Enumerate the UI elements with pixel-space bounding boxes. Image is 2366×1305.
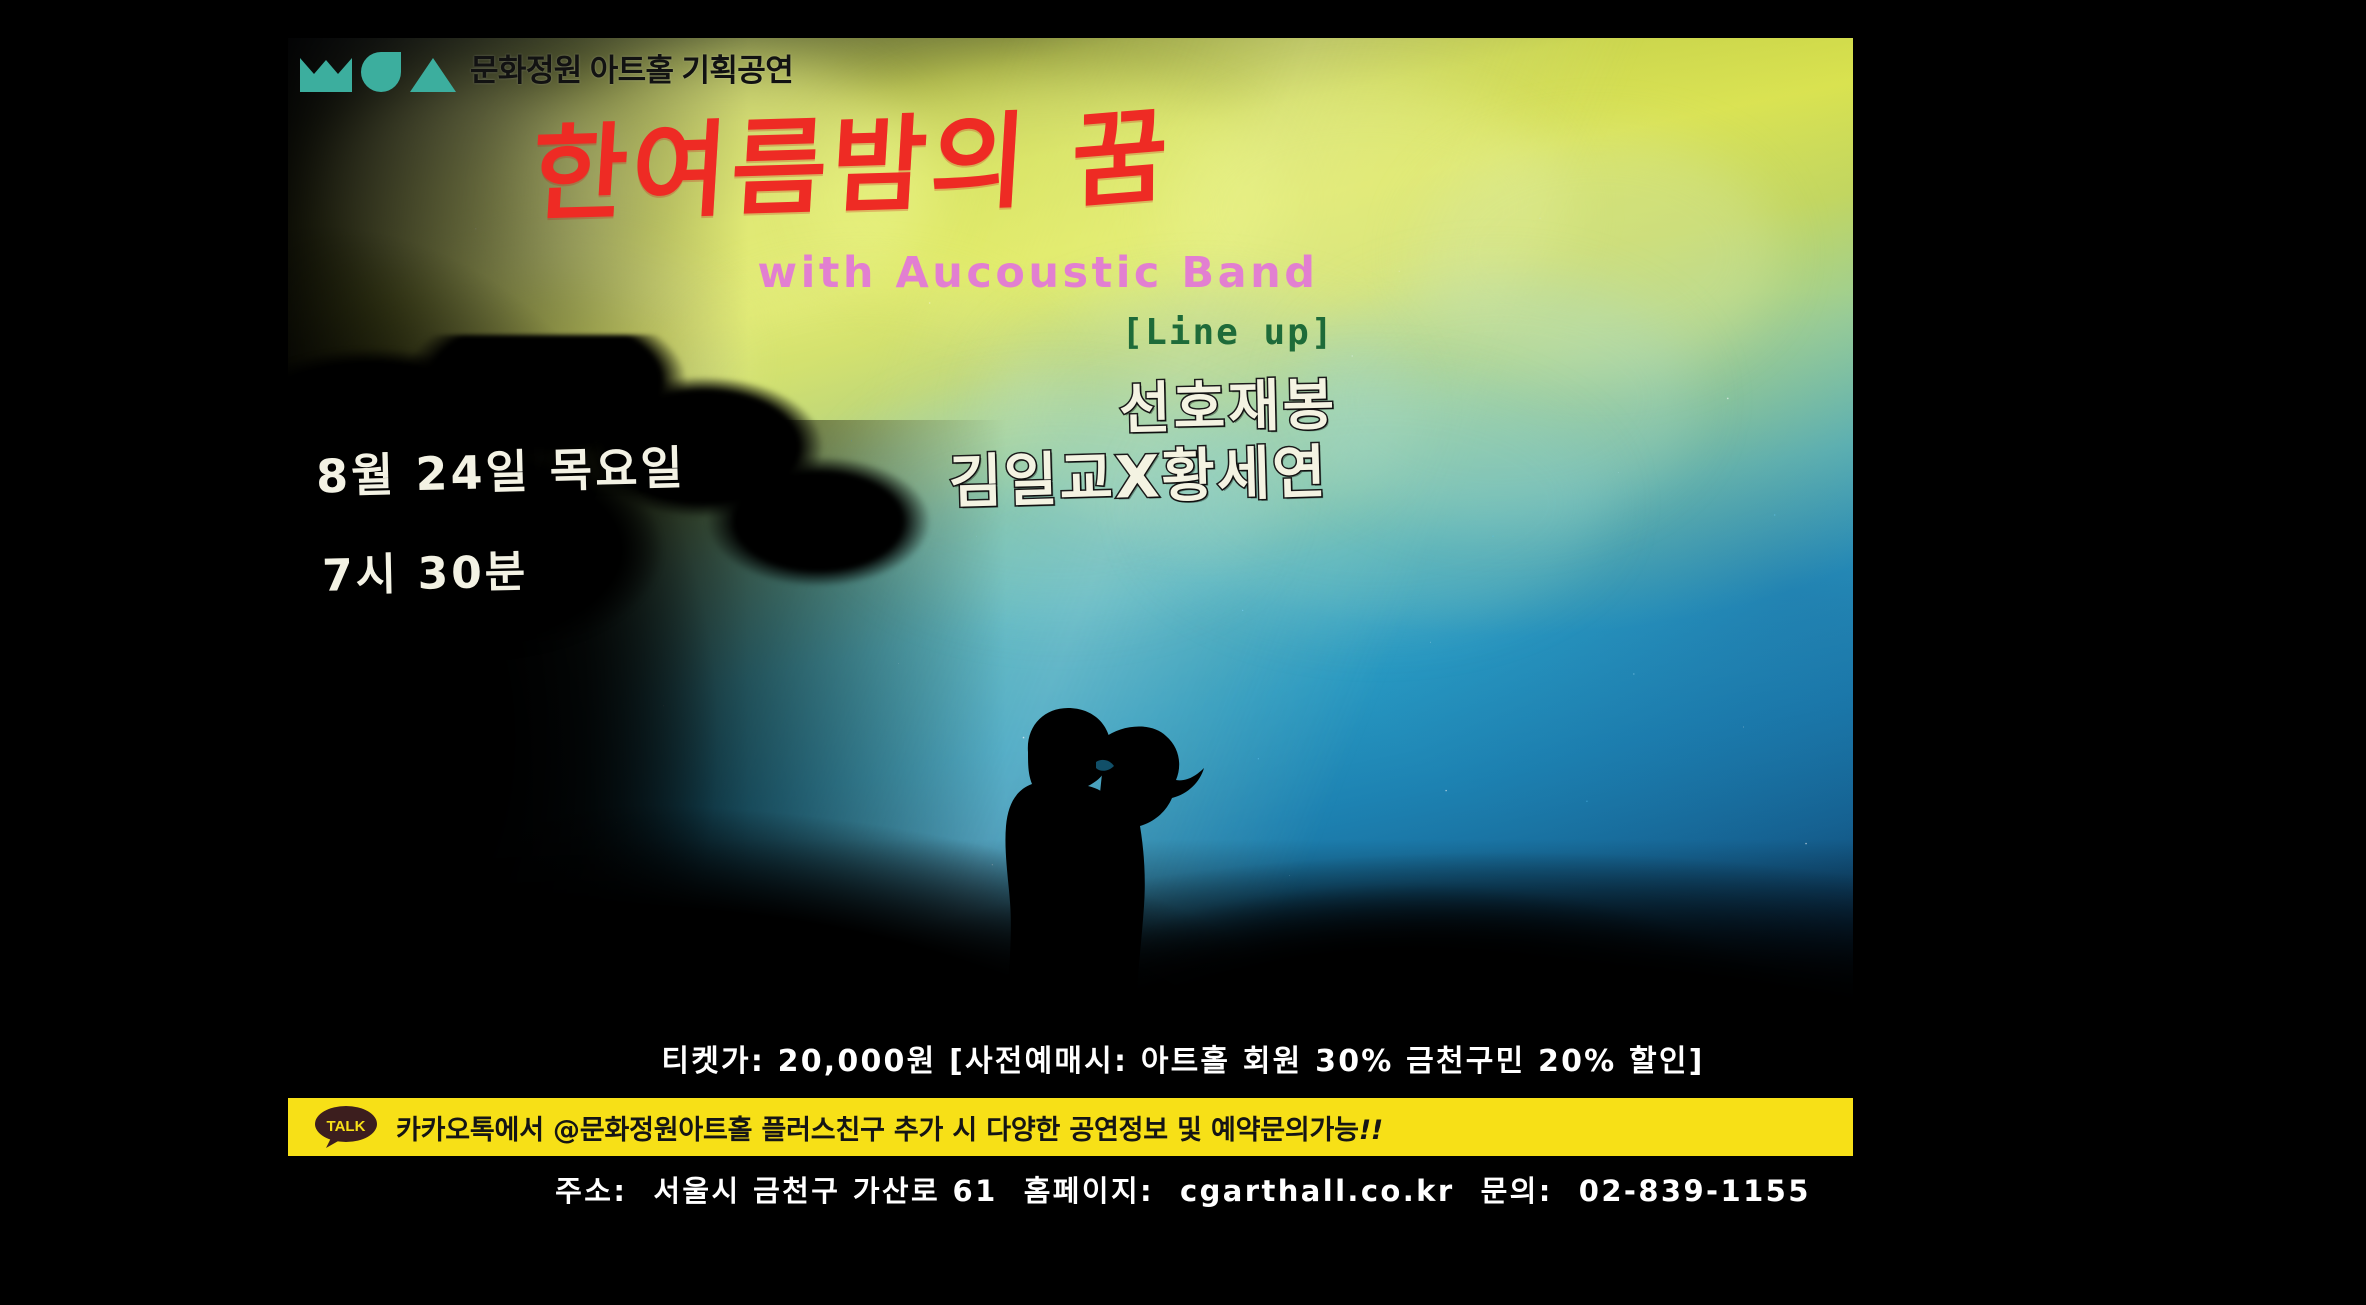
contact-value: 02-839-1155 xyxy=(1579,1174,1811,1208)
address-value: 서울시 금천구 가산로 61 xyxy=(653,1174,997,1208)
kakao-promo-main: 카카오톡에서 @문화정원아트홀 플러스친구 추가 시 다양한 공연정보 및 예약… xyxy=(396,1115,1359,1146)
homepage-value[interactable]: cgarthall.co.kr xyxy=(1180,1174,1455,1208)
title-part-1: 한여름밤의 xyxy=(528,100,1033,236)
ticket-price-line: 티켓가: 20,000원 [사전예매시: 아트홀 회원 30% 금천구민 20%… xyxy=(0,1036,2366,1080)
kakaotalk-icon: TALK xyxy=(314,1105,378,1149)
schedule-block: 8월 24일 목요일 7시 30분 xyxy=(316,436,686,600)
poster-image-panel: 문화정원 아트홀 기획공연 한여름밤의꿈 with Aucoustic Band… xyxy=(288,38,1853,1098)
contact-label: 문의: xyxy=(1481,1174,1553,1208)
lineup-label: [Line up] xyxy=(848,312,1608,353)
address-label: 주소: xyxy=(555,1174,627,1208)
kakao-promo-exclaim: !! xyxy=(1359,1115,1383,1146)
kakao-promo-text: 카카오톡에서 @문화정원아트홀 플러스친구 추가 시 다양한 공연정보 및 예약… xyxy=(396,1108,1383,1147)
kakao-promo-bar: TALK 카카오톡에서 @문화정원아트홀 플러스친구 추가 시 다양한 공연정보… xyxy=(288,1098,1853,1156)
subtitle: with Aucoustic Band xyxy=(588,248,1488,298)
logo-j-icon xyxy=(361,52,401,92)
footer-contact-line: 주소:서울시 금천구 가산로 61홈페이지:cgarthall.co.kr문의:… xyxy=(0,1168,2366,1210)
kakaotalk-bubble-icon: TALK xyxy=(314,1105,378,1149)
title-part-2: 꿈 xyxy=(1072,102,1173,214)
poster-header: 문화정원 아트홀 기획공연 xyxy=(300,48,793,92)
logo-a-icon xyxy=(410,58,456,92)
kakaotalk-icon-label: TALK xyxy=(327,1118,366,1135)
mja-logo xyxy=(300,48,456,92)
show-time: 7시 30분 xyxy=(321,532,686,604)
poster-root: 문화정원 아트홀 기획공연 한여름밤의꿈 with Aucoustic Band… xyxy=(0,0,2366,1305)
brand-title: 문화정원 아트홀 기획공연 xyxy=(470,55,793,86)
logo-m-icon xyxy=(300,58,352,92)
homepage-label: 홈페이지: xyxy=(1024,1174,1154,1208)
show-date: 8월 24일 목요일 xyxy=(315,431,686,506)
